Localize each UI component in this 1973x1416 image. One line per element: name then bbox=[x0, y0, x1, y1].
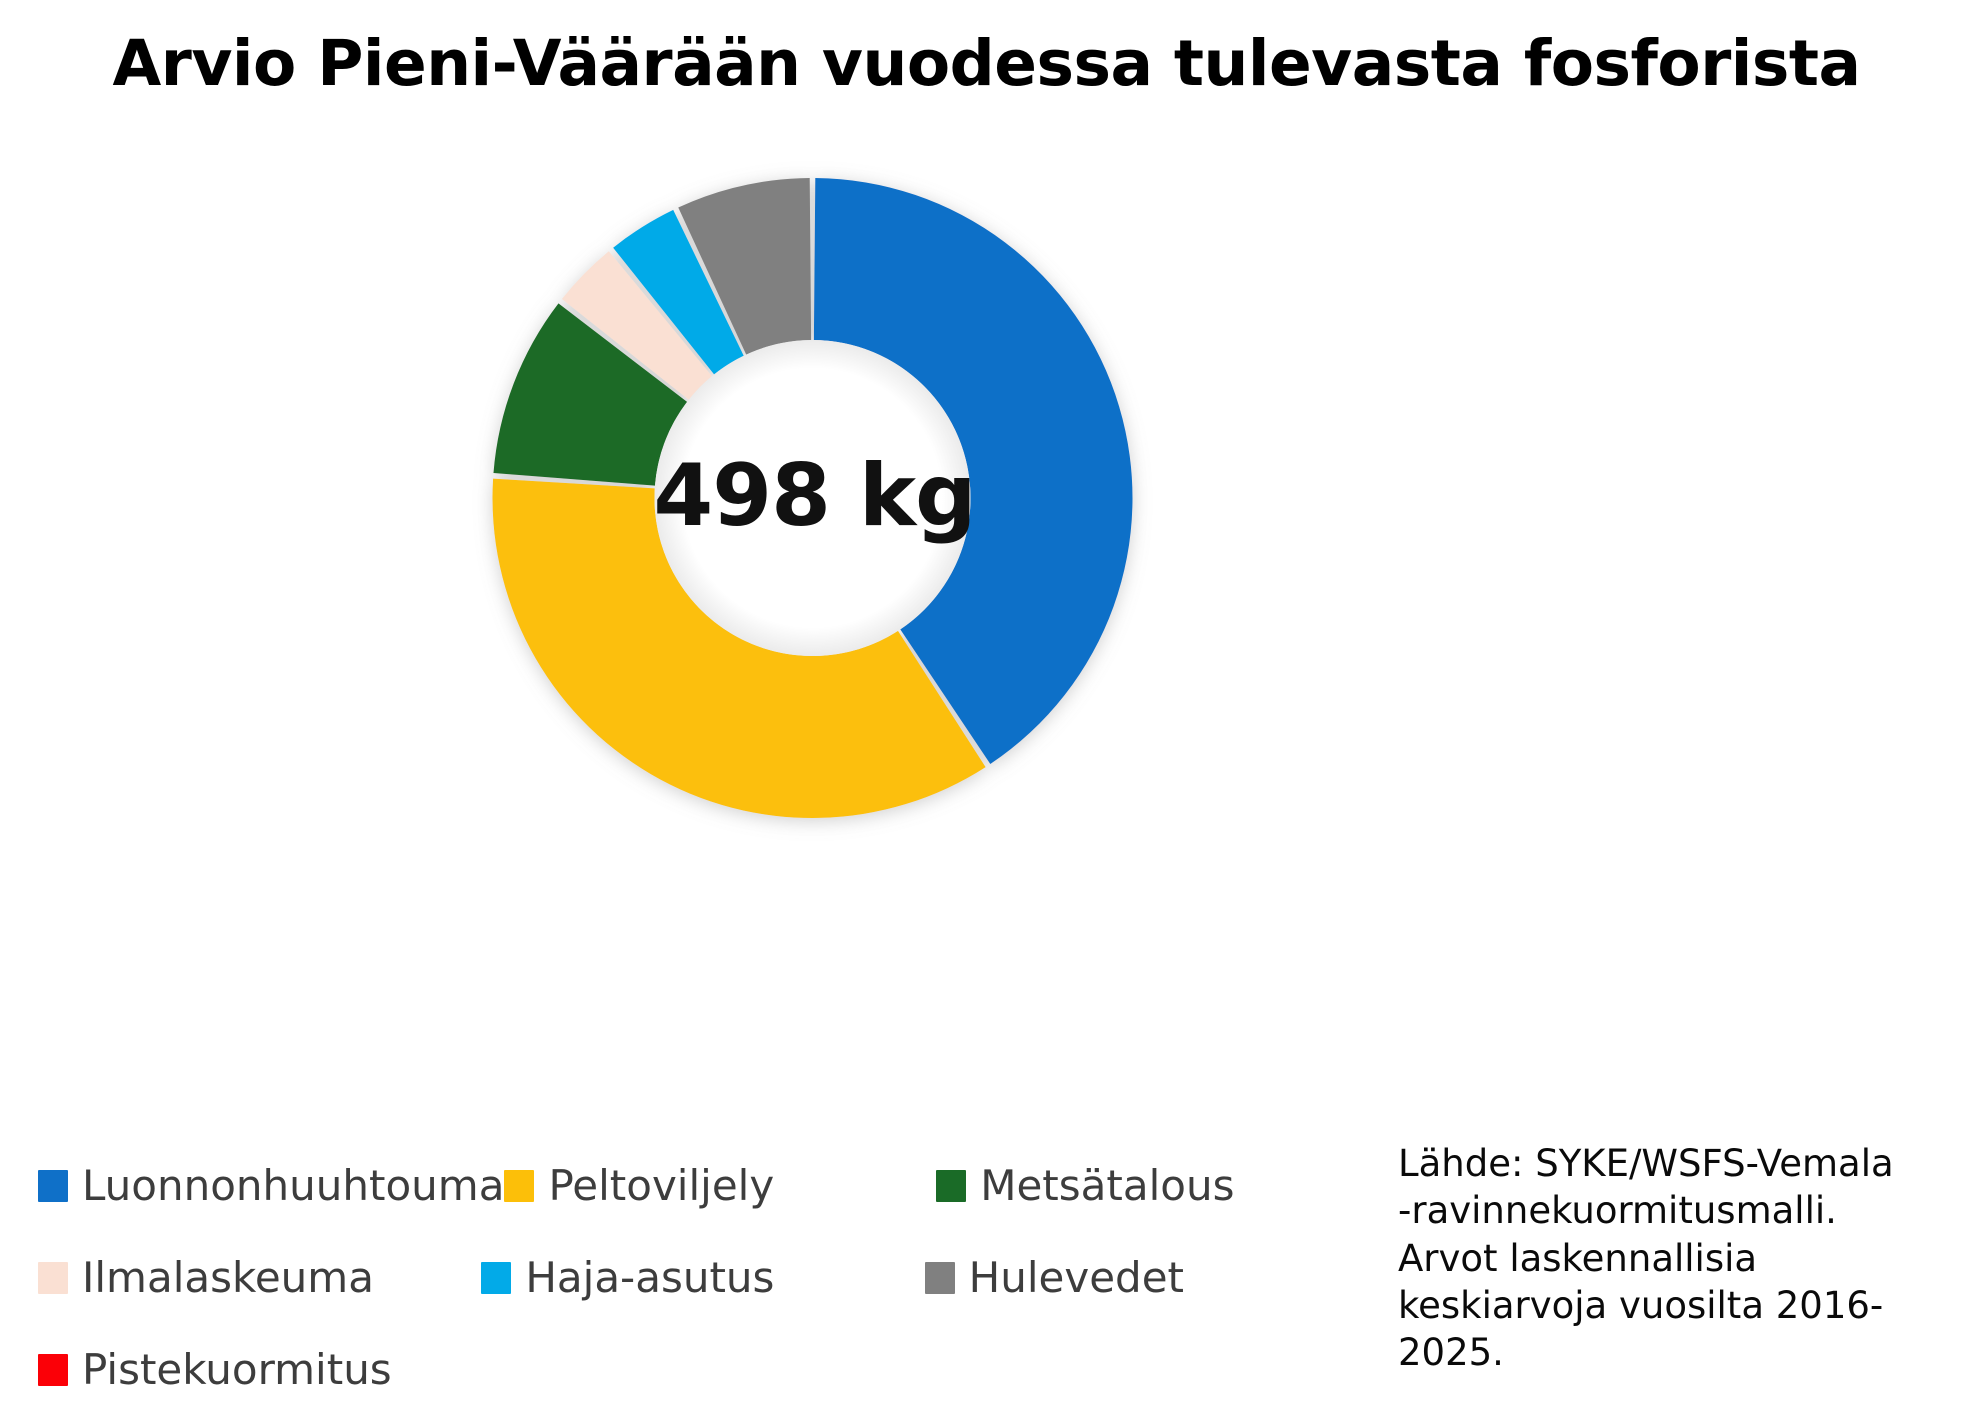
legend-item-label: Pistekuormitus bbox=[82, 1349, 392, 1391]
legend-item-haja-asutus[interactable]: Haja-asutus bbox=[481, 1232, 924, 1324]
legend-row: Ilmalaskeuma Haja-asutus Hulevedet bbox=[38, 1232, 1368, 1324]
legend-swatch-icon bbox=[38, 1354, 68, 1386]
legend-swatch-icon bbox=[481, 1262, 511, 1294]
legend-item-label: Metsätalous bbox=[980, 1165, 1234, 1207]
legend-row: Pistekuormitus bbox=[38, 1324, 1368, 1416]
legend-swatch-icon bbox=[925, 1262, 955, 1294]
donut-hole bbox=[655, 340, 971, 656]
legend-swatch-icon bbox=[38, 1262, 68, 1294]
donut-chart: 498 kg bbox=[490, 148, 1135, 848]
legend-item-ilmalaskeuma[interactable]: Ilmalaskeuma bbox=[38, 1232, 481, 1324]
legend-swatch-icon bbox=[504, 1170, 534, 1202]
source-note: Lähde: SYKE/WSFS-Vemala -ravinnekuormitu… bbox=[1398, 1140, 1928, 1377]
legend-swatch-icon bbox=[936, 1170, 966, 1202]
legend-item-label: Hulevedet bbox=[969, 1257, 1184, 1299]
legend-item-luonnonhuuhtouma[interactable]: Luonnonhuuhtouma bbox=[38, 1140, 504, 1232]
legend-item-label: Haja-asutus bbox=[525, 1257, 774, 1299]
legend-item-label: Luonnonhuuhtouma bbox=[82, 1165, 504, 1207]
legend-item-metsatalous[interactable]: Metsätalous bbox=[936, 1140, 1368, 1232]
legend-item-pistekuormitus[interactable]: Pistekuormitus bbox=[38, 1324, 523, 1416]
legend-item-label: Ilmalaskeuma bbox=[82, 1257, 374, 1299]
legend-swatch-icon bbox=[38, 1170, 68, 1202]
chart-legend: Luonnonhuuhtouma Peltoviljely Metsätalou… bbox=[38, 1140, 1368, 1416]
page-title: Arvio Pieni-Väärään vuodessa tulevasta f… bbox=[0, 28, 1973, 100]
legend-item-label: Peltoviljely bbox=[548, 1165, 774, 1207]
donut-chart-svg bbox=[490, 148, 1135, 848]
legend-item-peltoviljely[interactable]: Peltoviljely bbox=[504, 1140, 936, 1232]
legend-item-hulevedet[interactable]: Hulevedet bbox=[925, 1232, 1368, 1324]
legend-row: Luonnonhuuhtouma Peltoviljely Metsätalou… bbox=[38, 1140, 1368, 1232]
